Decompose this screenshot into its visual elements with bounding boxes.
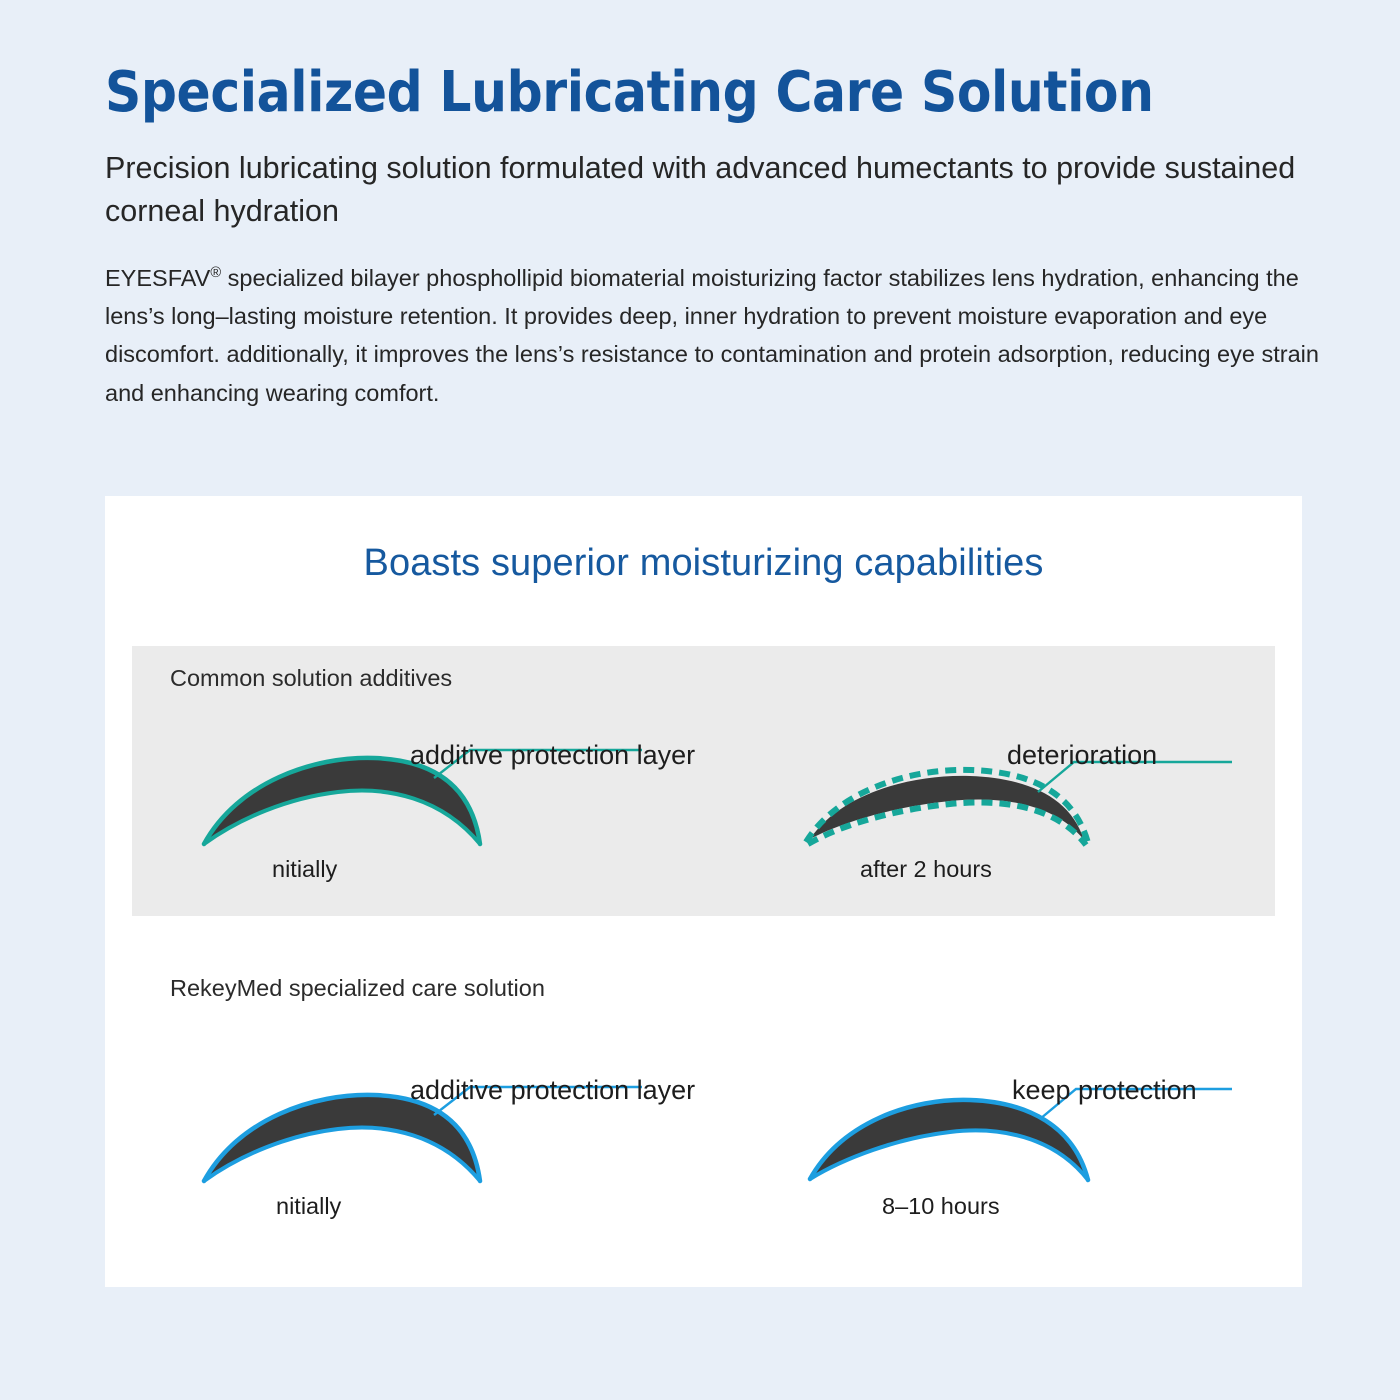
lens-figure-common-initial	[142, 646, 702, 916]
page-title: Specialized Lubricating Care Solution	[105, 62, 1350, 125]
lens-figure-rekeymed-8-10-hours	[782, 956, 1275, 1266]
card-title: Boasts superior moisturizing capabilitie…	[105, 542, 1302, 585]
registered-trademark-symbol: ®	[210, 265, 221, 281]
callout-label-keep-protection: keep protection	[1012, 1075, 1197, 1106]
diagram-row-rekeymed-care-solution: RekeyMed specialized care solution addit…	[132, 956, 1275, 1266]
state-label-after-2-hours: after 2 hours	[860, 856, 992, 883]
body-text: specialized bilayer phosphollipid biomat…	[105, 265, 1319, 405]
state-label-initially: nitially	[272, 856, 337, 883]
diagram-row-common-solution-additives: Common solution additives additive prote…	[132, 646, 1275, 916]
lens-figure-rekeymed-initial	[142, 956, 702, 1266]
lens-cell-rekeymed-initial: additive protection layer nitially	[142, 956, 702, 1266]
brand-name: EYESFAV	[105, 265, 210, 291]
callout-label-additive-protection-layer: additive protection layer	[410, 1075, 695, 1106]
state-label-initially: nitially	[276, 1193, 341, 1220]
lens-body	[204, 1095, 480, 1181]
lens-body	[810, 1100, 1088, 1180]
diagram-card: Boasts superior moisturizing capabilitie…	[105, 496, 1302, 1287]
lens-cell-rekeymed-8-10-hours: keep protection 8–10 hours	[782, 956, 1275, 1266]
page-body-paragraph: EYESFAV® specialized bilayer phosphollip…	[105, 259, 1325, 411]
lens-figure-common-after-2-hours	[782, 646, 1275, 916]
header-block: Specialized Lubricating Care Solution Pr…	[105, 62, 1350, 412]
page-subtitle: Precision lubricating solution formulate…	[105, 147, 1340, 234]
lens-cell-common-initial: additive protection layer nitially	[142, 646, 702, 916]
callout-label-additive-protection-layer: additive protection layer	[410, 740, 695, 771]
state-label-8-10-hours: 8–10 hours	[882, 1193, 1000, 1220]
lens-cell-common-after-2-hours: deterioration after 2 hours	[782, 646, 1275, 916]
callout-label-deterioration: deterioration	[1007, 740, 1157, 771]
